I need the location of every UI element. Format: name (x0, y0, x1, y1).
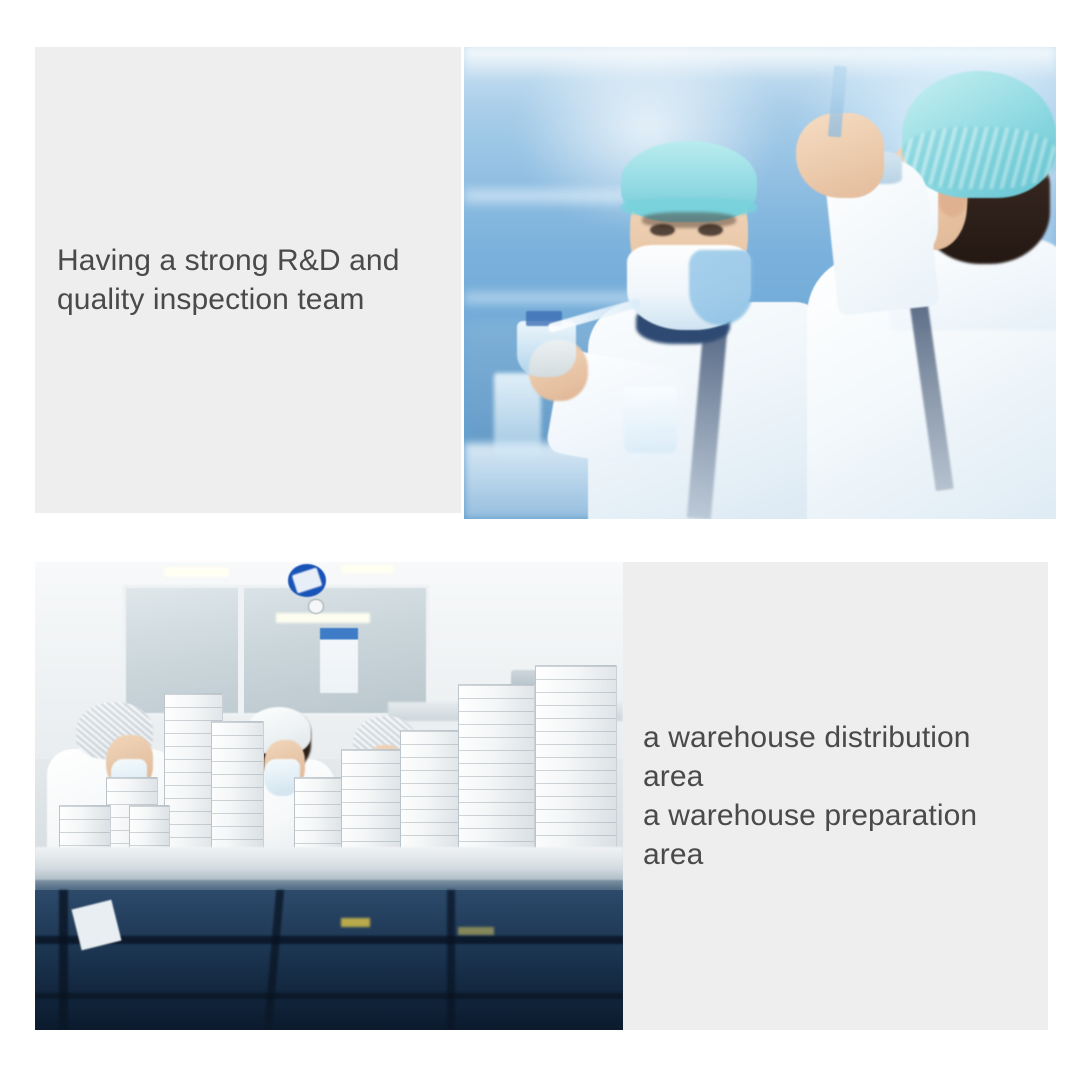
carton-stack-e (341, 749, 406, 852)
window-mullion (238, 585, 244, 716)
under-table-shadow (35, 890, 623, 1030)
caption-text-rnd: Having a strong R&D and quality inspecti… (57, 241, 399, 319)
section-warehouse: a warehouse distribution area a warehous… (0, 540, 1080, 1080)
warehouse-packing-photo (35, 562, 623, 1030)
carton-stack-b (211, 721, 264, 852)
technician-left-mask-shadow (689, 250, 754, 326)
showcase-page: Having a strong R&D and quality inspecti… (0, 0, 1080, 1080)
ceiling-light-left (164, 567, 229, 577)
sample-vial (517, 321, 576, 378)
ceiling-light-right (341, 565, 394, 573)
lab-beaker-secondary (624, 387, 677, 453)
caption-panel-rnd: Having a strong R&D and quality inspecti… (35, 47, 461, 513)
table-rail-lower (35, 993, 623, 1000)
table-leg-1 (59, 890, 68, 1030)
technician-left-eye-right (698, 224, 723, 236)
floor-marking-left (341, 918, 370, 927)
lab-inspection-photo (464, 47, 1056, 519)
section-rnd-quality: Having a strong R&D and quality inspecti… (0, 0, 1080, 520)
carton-stack-j (129, 805, 170, 852)
carton-stack-h (535, 665, 617, 852)
floor-marking-right (458, 927, 493, 934)
table-rail-upper (35, 936, 623, 943)
warehouse-scene (35, 562, 623, 1030)
caption-text-warehouse: a warehouse distribution area a warehous… (643, 718, 1038, 874)
technician-right-cap-ruffle (902, 127, 1056, 188)
carton-stack-d (59, 805, 112, 852)
carton-stack-i (294, 777, 347, 852)
caption-panel-warehouse: a warehouse distribution area a warehous… (623, 562, 1048, 1030)
lab-scene (464, 47, 1056, 519)
carton-stack-f (400, 730, 465, 852)
wall-notice-board (320, 628, 358, 694)
carton-stack-g (458, 684, 534, 852)
window-interior-light (276, 613, 370, 622)
table-leg-3 (447, 890, 455, 1030)
